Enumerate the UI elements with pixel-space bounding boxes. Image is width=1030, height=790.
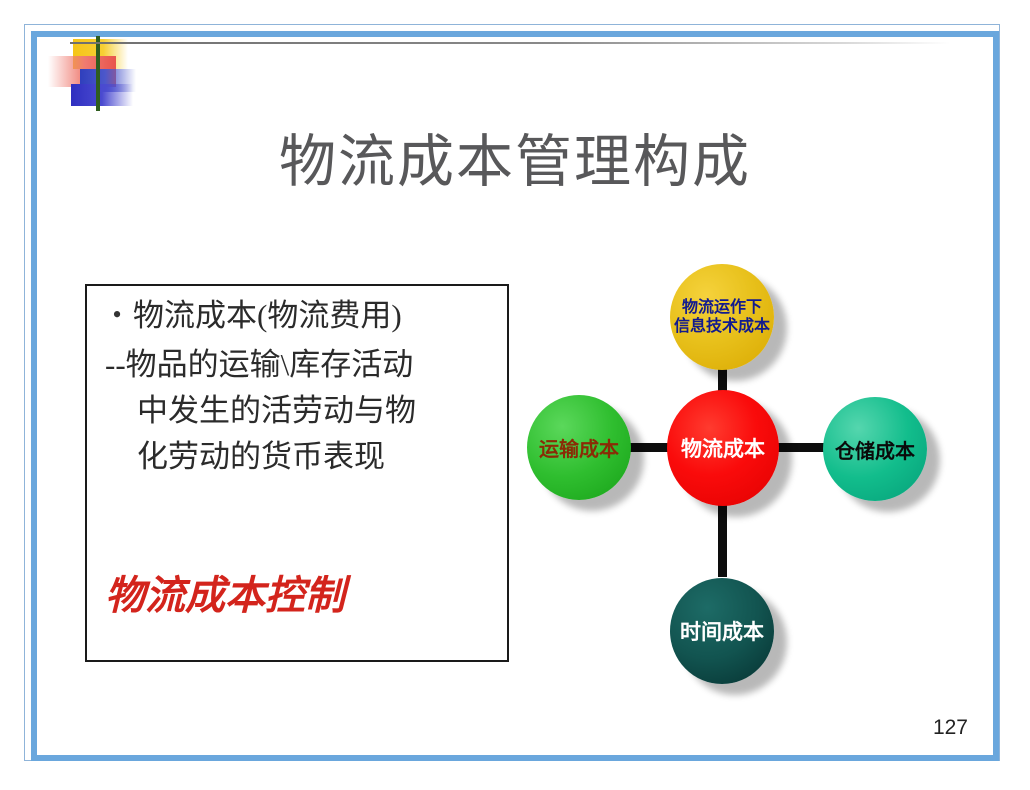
bullet-marker-icon: •	[101, 292, 133, 338]
bullet-item: • 物流成本(物流费用)	[101, 292, 501, 340]
bullet-item-label: 物流成本(物流费用)	[133, 292, 402, 340]
diagram-node-it-cost-label-line-1: 物流运作下	[674, 298, 770, 317]
content-textbox: • 物流成本(物流费用) --物品的运输\库存活动 中发生的活劳动与物 化劳动的…	[85, 284, 509, 662]
slide-canvas: 物流成本管理构成 • 物流成本(物流费用) --物品的运输\库存活动 中发生的活…	[0, 0, 1030, 790]
diagram-node-transport-cost-label: 运输成本	[539, 433, 619, 462]
diagram-node-time-cost-label: 时间成本	[680, 616, 764, 646]
definition-paragraph: --物品的运输\库存活动 中发生的活劳动与物 化劳动的货币表现	[105, 342, 505, 480]
definition-line-3: 化劳动的货币表现	[105, 434, 505, 480]
page-number: 127	[933, 716, 968, 740]
diagram-node-transport-cost: 运输成本	[527, 395, 631, 500]
highlight-note: 物流成本控制	[105, 570, 345, 622]
hub-and-spoke-diagram: 物流运作下 信息技术成本 运输成本 物流成本 仓储成本 时间成本	[505, 230, 975, 680]
logo-green-vertical-rule	[96, 36, 100, 111]
diagram-node-logistics-cost-label: 物流成本	[681, 433, 765, 463]
diagram-node-time-cost: 时间成本	[670, 578, 774, 684]
definition-line-2: 中发生的活劳动与物	[105, 388, 505, 434]
diagram-node-logistics-cost: 物流成本	[667, 390, 779, 506]
diagram-node-it-cost-label-line-2: 信息技术成本	[674, 317, 770, 336]
page-title: 物流成本管理构成	[0, 128, 1030, 198]
diagram-node-warehousing-cost: 仓储成本	[823, 397, 927, 501]
diagram-node-warehousing-cost-label: 仓储成本	[835, 435, 915, 464]
definition-line-1: --物品的运输\库存活动	[105, 342, 505, 388]
logo-blue-block-lower	[71, 84, 133, 106]
decorative-color-blocks-logo	[40, 36, 150, 111]
header-horizontal-rule	[70, 42, 950, 44]
diagram-node-it-cost: 物流运作下 信息技术成本	[670, 264, 774, 370]
